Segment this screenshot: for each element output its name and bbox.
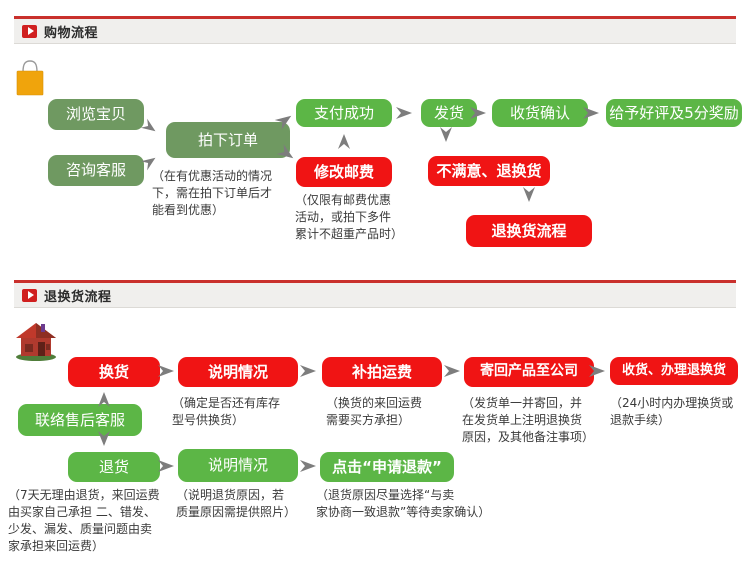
box-contact-after-sales[interactable]: 联络售后客服 <box>18 404 142 436</box>
arrow-aftersales-to-exchange <box>96 385 112 407</box>
box-label: 退换货流程 <box>491 223 566 240</box>
box-label: 说明情况 <box>208 364 268 381</box>
box-extra-shipping-fee[interactable]: 补拍运费 <box>322 357 442 387</box>
box-explain-situation-2[interactable]: 说明情况 <box>178 449 298 482</box>
box-label: 说明情况 <box>208 457 268 474</box>
shopping-bag-icon <box>13 58 47 98</box>
box-payment-success[interactable]: 支付成功 <box>296 99 392 127</box>
caption-send-back-note: （发货单一并寄回，并 在发货单上注明退换货 原因，及其他备注事项） <box>462 395 602 446</box>
caption-extra-shipping-note: （换货的来回运费 需要买方承担） <box>326 395 450 429</box>
arrow-aftersales-to-return <box>96 431 112 453</box>
box-consult-service[interactable]: 咨询客服 <box>48 155 144 186</box>
caption-modify-shipping-note: （仅限有邮费优惠 活动，或拍下多件 累计不超重产品时） <box>295 192 411 243</box>
arrow-exchange-to-explain <box>158 363 180 379</box>
arrow-payment-to-ship <box>396 105 418 121</box>
box-label: 给予好评及5分奖励 <box>609 105 739 122</box>
box-receive-and-handle[interactable]: 收货、办理退换货 <box>610 357 738 385</box>
box-return-process[interactable]: 退换货流程 <box>466 215 592 247</box>
box-give-review[interactable]: 给予好评及5分奖励 <box>606 99 742 127</box>
box-label: 寄回产品至公司 <box>480 364 578 379</box>
box-send-back-product[interactable]: 寄回产品至公司 <box>464 357 594 387</box>
caption-apply-refund-note: （退货原因尽量选择“与卖 家协商一致退款”等待卖家确认） <box>316 487 516 521</box>
section-header-return: 退换货流程 <box>14 280 736 308</box>
box-label: 发货 <box>434 105 464 122</box>
arrow-modify-to-payment <box>336 127 352 149</box>
arrow-ship-to-confirm <box>470 105 492 121</box>
house-icon <box>12 318 60 362</box>
arrow-dissatisfied-to-return <box>521 187 537 209</box>
box-label: 修改邮费 <box>314 164 374 181</box>
box-label: 收货、办理退换货 <box>622 364 726 378</box>
caption-explain-return-note: （说明退货原因，若 质量原因需提供照片） <box>176 487 308 521</box>
arrow-confirm-to-review <box>583 105 605 121</box>
box-browse-item[interactable]: 浏览宝贝 <box>48 99 144 130</box>
box-label: 换货 <box>99 364 129 381</box>
box-label: 补拍运费 <box>352 364 412 381</box>
box-explain-situation-1[interactable]: 说明情况 <box>178 357 298 387</box>
arrow-explain2-to-refund <box>300 458 322 474</box>
play-icon <box>22 289 37 302</box>
box-return-goods[interactable]: 退货 <box>68 452 160 482</box>
box-place-order[interactable]: 拍下订单 <box>166 122 290 158</box>
box-click-apply-refund[interactable]: 点击“申请退款” <box>320 452 454 482</box>
section-title-shopping: 购物流程 <box>44 22 98 41</box>
header-band: 退换货流程 <box>14 283 736 308</box>
box-label: 点击“申请退款” <box>332 459 442 476</box>
box-label: 收货确认 <box>510 105 570 122</box>
caption-return-goods-note: （7天无理由退货，来回运费 由买家自己承担 二、错发、 少发、漏发、质量问题由卖… <box>8 487 176 555</box>
caption-place-order-note: （在有优惠活动的情况 下，需在拍下订单后才 能看到优惠） <box>152 168 292 219</box>
arrow-sendback-to-receive <box>589 363 611 379</box>
box-label: 联络售后客服 <box>35 412 125 429</box>
box-label: 咨询客服 <box>66 162 126 179</box>
flow-chart-page: 购物流程 浏览宝贝 咨询客服 拍下订单 支付成功 修改邮费 发货 收货确认 给予… <box>0 0 750 565</box>
box-ship-goods[interactable]: 发货 <box>421 99 477 127</box>
box-label: 拍下订单 <box>198 132 258 149</box>
box-label: 支付成功 <box>314 105 374 122</box>
box-label: 不满意、退换货 <box>436 163 541 180</box>
box-confirm-receipt[interactable]: 收货确认 <box>492 99 588 127</box>
arrow-explain-to-shipping <box>300 363 322 379</box>
box-label: 退货 <box>99 459 129 476</box>
header-band: 购物流程 <box>14 19 736 44</box>
box-modify-shipping[interactable]: 修改邮费 <box>296 157 392 187</box>
box-dissatisfied[interactable]: 不满意、退换货 <box>428 156 550 186</box>
box-exchange-goods[interactable]: 换货 <box>68 357 160 387</box>
arrow-ship-to-dissatisfied <box>438 127 454 149</box>
caption-exchange-note: （确定是否还有库存 型号供换货） <box>172 395 302 429</box>
play-icon <box>22 25 37 38</box>
box-label: 浏览宝贝 <box>66 106 126 123</box>
caption-receive-handle-note: （24小时内办理换货或 退款手续） <box>610 395 740 429</box>
arrow-shipping-to-sendback <box>444 363 466 379</box>
arrow-return-to-explain2 <box>158 458 180 474</box>
section-title-return: 退换货流程 <box>44 286 112 305</box>
section-header-shopping: 购物流程 <box>14 16 736 44</box>
